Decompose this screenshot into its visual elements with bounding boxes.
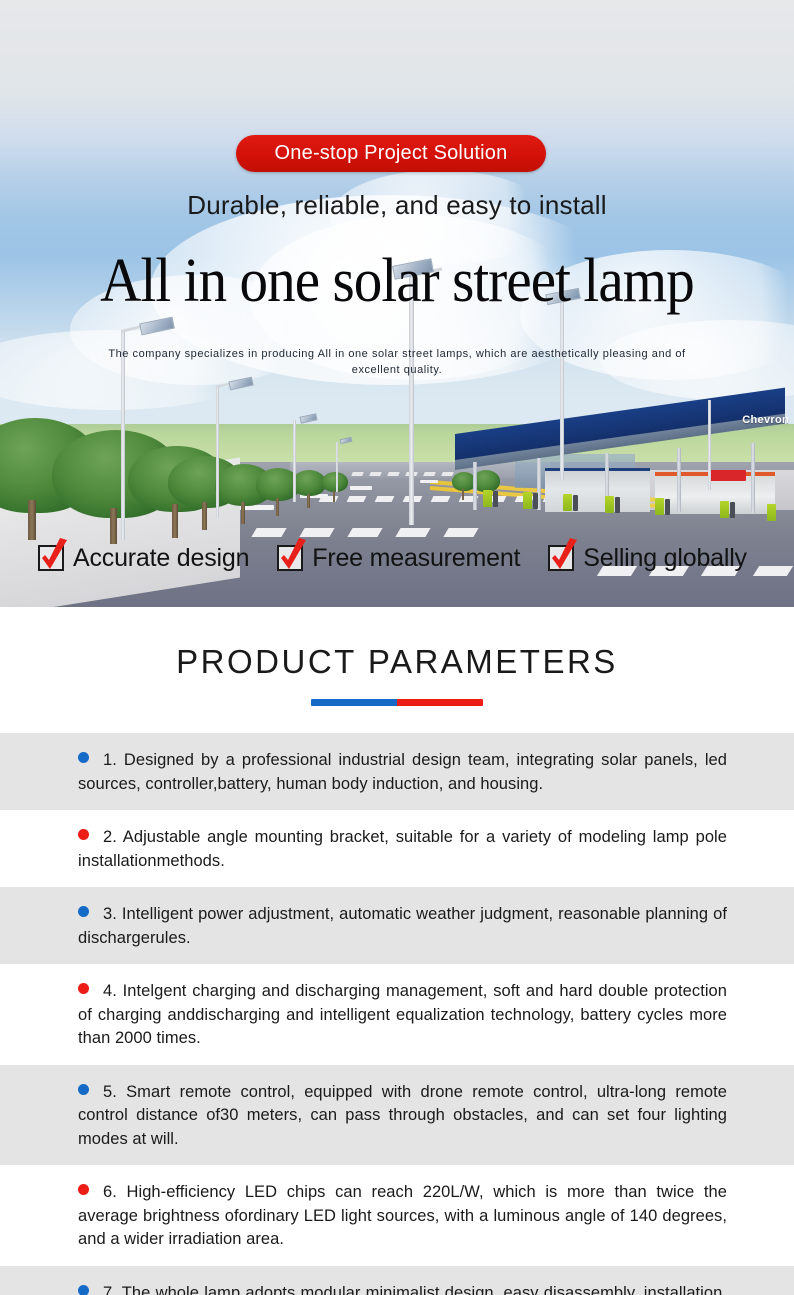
crosswalk-far [387, 472, 400, 476]
fuel-pump [483, 490, 492, 507]
parameter-row: 4. Intelgent charging and discharging ma… [0, 964, 794, 1065]
tree-icon [292, 470, 326, 508]
bullet-icon [78, 1084, 89, 1095]
section-title: PRODUCT PARAMETERS [0, 643, 794, 681]
parameter-row: 7. The whole lamp adopts modular minimal… [0, 1266, 794, 1295]
fuel-pump [563, 494, 572, 511]
crosswalk-stripe [431, 496, 451, 502]
feature-item: Accurate design [38, 544, 249, 573]
parameter-row: 1. Designed by a professional industrial… [0, 733, 794, 810]
fuel-pump [655, 498, 664, 515]
shop-sign [710, 470, 746, 481]
chevron-brand-label: Chevron [742, 414, 789, 426]
street-lamp-pole [216, 386, 219, 518]
hero-banner: Chevron [0, 0, 794, 607]
canopy-column [751, 443, 755, 513]
fuel-pump [665, 499, 670, 515]
parameter-row: 5. Smart remote control, equipped with d… [0, 1065, 794, 1166]
fuel-pump [605, 496, 614, 513]
one-stop-badge[interactable]: One-stop Project Solution [236, 135, 546, 172]
hero-subtitle: Durable, reliable, and easy to install [0, 190, 794, 221]
parameter-body: 1. Designed by a professional industrial… [78, 751, 727, 793]
parameter-text: 3. Intelligent power adjustment, automat… [78, 903, 727, 950]
parameter-body: 4. Intelgent charging and discharging ma… [78, 982, 727, 1047]
parameter-body: 2. Adjustable angle mounting bracket, su… [78, 828, 727, 870]
title-divider [311, 699, 483, 706]
feature-item: Selling globally [548, 544, 747, 573]
solar-panel [299, 413, 317, 423]
checkbox-checked-icon [548, 545, 574, 571]
parameter-text: 7. The whole lamp adopts modular minimal… [78, 1282, 727, 1295]
parameter-body: 3. Intelligent power adjustment, automat… [78, 905, 727, 947]
parameter-body: 6. High-efficiency LED chips can reach 2… [78, 1183, 727, 1248]
checkbox-checked-icon [277, 545, 303, 571]
fuel-pump [523, 492, 532, 509]
fuel-pump [493, 491, 498, 507]
feature-label: Selling globally [583, 544, 747, 573]
divider-red-segment [397, 699, 483, 706]
gas-station: Chevron [455, 398, 794, 533]
street-lamp-pole [708, 400, 711, 490]
parameter-text: 5. Smart remote control, equipped with d… [78, 1081, 727, 1152]
fuel-pump [573, 495, 578, 511]
feature-label: Free measurement [312, 544, 520, 573]
badge-label: One-stop Project Solution [275, 142, 508, 165]
street-lamp-pole [293, 420, 296, 502]
hero-title: All in one solar street lamp [32, 246, 762, 317]
fuel-pump [767, 504, 776, 521]
checkmark-icon [36, 538, 72, 576]
bullet-icon [78, 906, 89, 917]
solar-panel [228, 377, 253, 391]
crosswalk-far [423, 472, 436, 476]
crosswalk-stripe [395, 528, 430, 537]
crosswalk-far [351, 472, 364, 476]
parameter-body: 5. Smart remote control, equipped with d… [78, 1083, 727, 1148]
checkbox-checked-icon [38, 545, 64, 571]
parameter-text: 2. Adjustable angle mounting bracket, su… [78, 826, 727, 873]
lane-dash [350, 486, 372, 490]
divider-blue-segment [311, 699, 397, 706]
fuel-pump [720, 501, 729, 518]
parameter-text: 6. High-efficiency LED chips can reach 2… [78, 1181, 727, 1252]
crosswalk-far [369, 472, 382, 476]
solar-panel [139, 317, 175, 336]
canopy-column [473, 462, 477, 510]
parameter-text: 1. Designed by a professional industrial… [78, 749, 727, 796]
bullet-icon [78, 752, 89, 763]
bullet-icon [78, 1184, 89, 1195]
street-lamp-pole [336, 442, 338, 492]
parameter-body: 7. The whole lamp adopts modular minimal… [78, 1284, 727, 1295]
feature-list: Accurate design Free measurement Selling… [38, 537, 768, 579]
product-parameters-header: PRODUCT PARAMETERS [0, 607, 794, 706]
crosswalk-stripe [347, 528, 382, 537]
bullet-icon [78, 829, 89, 840]
feature-label: Accurate design [73, 544, 249, 573]
lane-dash [420, 480, 438, 483]
canopy-column [677, 448, 681, 512]
checkmark-icon [546, 538, 582, 576]
product-detail-page: Chevron [0, 0, 794, 1295]
crosswalk-stripe [251, 528, 286, 537]
parameter-list: 1. Designed by a professional industrial… [0, 733, 794, 1295]
fuel-pump [730, 502, 735, 518]
parameter-row: 3. Intelligent power adjustment, automat… [0, 887, 794, 964]
feature-item: Free measurement [277, 544, 520, 573]
bullet-icon [78, 983, 89, 994]
crosswalk-stripe [375, 496, 395, 502]
hero-description: The company specializes in producing All… [97, 346, 697, 378]
bullet-icon [78, 1285, 89, 1295]
parameter-row: 6. High-efficiency LED chips can reach 2… [0, 1165, 794, 1266]
parameter-row: 2. Adjustable angle mounting bracket, su… [0, 810, 794, 887]
crosswalk-stripe [347, 496, 367, 502]
tree-icon [322, 472, 348, 502]
fuel-pump [615, 497, 620, 513]
parameter-text: 4. Intelgent charging and discharging ma… [78, 980, 727, 1051]
crosswalk-stripe [299, 528, 334, 537]
checkmark-icon [275, 538, 311, 576]
fuel-pump [533, 493, 538, 509]
street-lamp-pole [560, 300, 564, 480]
